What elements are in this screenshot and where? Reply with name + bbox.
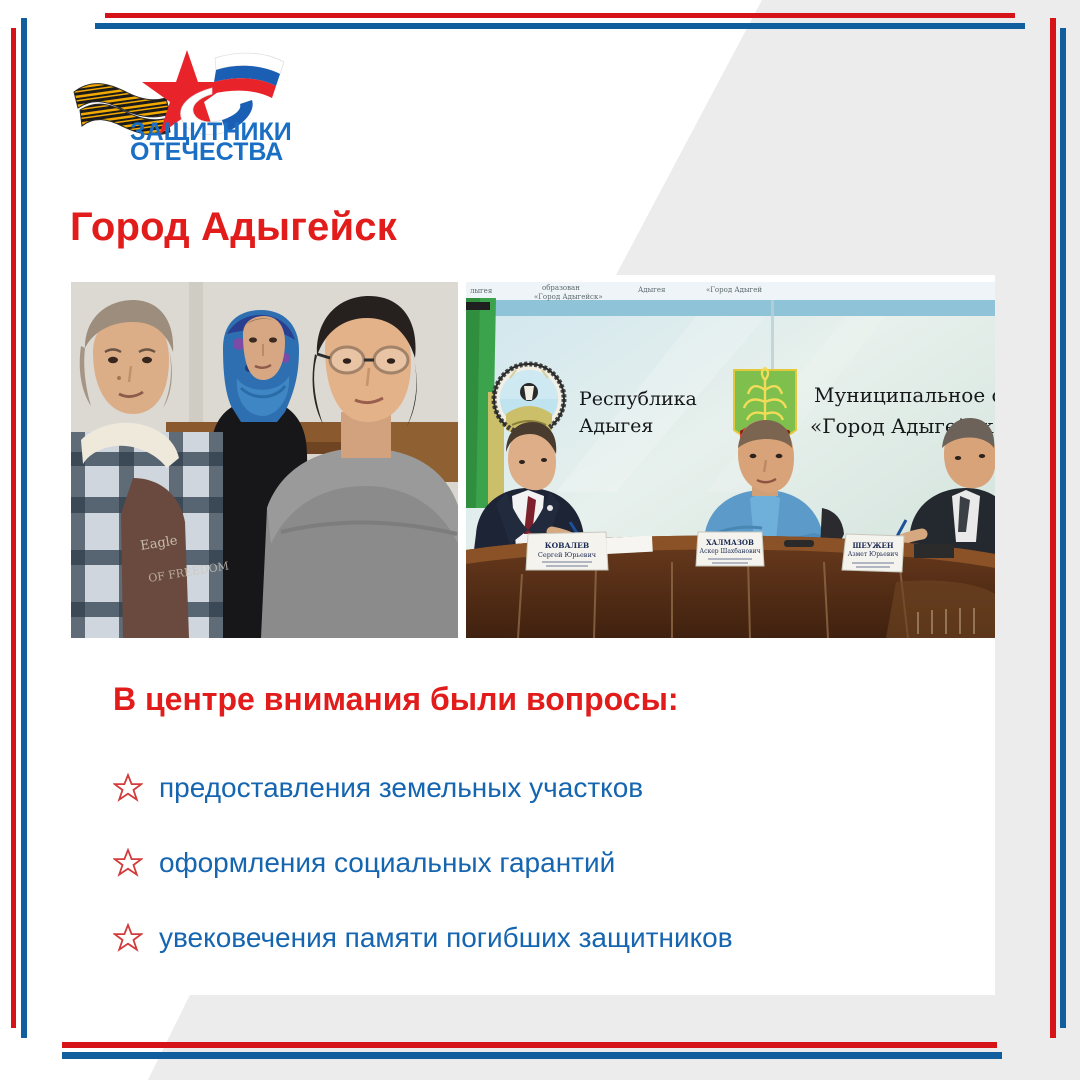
frame-line-bottom-blue bbox=[62, 1052, 1002, 1059]
photo-women-audience: Eagle OF FREEDOM bbox=[71, 282, 458, 638]
star-outline-icon bbox=[113, 923, 159, 953]
lead-heading: В центре внимания были вопросы: bbox=[113, 681, 679, 718]
frame-line-top-blue bbox=[95, 23, 1025, 29]
list-item-label: увековечения памяти погибших защитников bbox=[159, 922, 733, 954]
list-item: увековечения памяти погибших защитников bbox=[113, 900, 943, 975]
list-item-label: оформления социальных гарантий bbox=[159, 847, 615, 879]
frame-line-top-red bbox=[105, 13, 1015, 18]
star-outline-icon bbox=[113, 773, 159, 803]
banner-municipality-line1: Муниципальное о bbox=[814, 383, 995, 407]
frame-line-right-blue bbox=[1060, 28, 1066, 1028]
photo-officials-roundtable: лыгея образован «Город Адыгейск» Адыгея … bbox=[466, 282, 995, 638]
banner-region-line1: Республика bbox=[579, 388, 697, 410]
poster-canvas: ЗАЩИТНИКИ ОТЕЧЕСТВА Город Адыгейск bbox=[0, 0, 1080, 1080]
nameplate-left-patronymic: Сергей Юрьевич bbox=[538, 551, 596, 559]
nameplate-right: ШЕУЖЕН Азмет Юрьевич bbox=[842, 534, 904, 572]
frame-line-right-red bbox=[1050, 18, 1056, 1038]
nameplate-center-patronymic: Аскер Шахбанович bbox=[700, 548, 761, 555]
frame-line-bottom-red bbox=[62, 1042, 997, 1048]
list-item: оформления социальных гарантий bbox=[113, 825, 943, 900]
nameplate-center: ХАЛМАЗОВ Аскер Шахбанович bbox=[696, 532, 764, 566]
star-outline-icon bbox=[113, 848, 159, 878]
nameplate-left-surname: КОВАЛЕВ bbox=[545, 541, 590, 550]
nameplate-center-surname: ХАЛМАЗОВ bbox=[706, 538, 754, 547]
banner-top-text-4: Адыгея bbox=[638, 286, 666, 294]
banner-region-line2: Адыгея bbox=[579, 415, 653, 437]
nameplate-right-patronymic: Азмет Юрьевич bbox=[848, 551, 898, 558]
banner-top-text-5: «Город Адыгей bbox=[706, 286, 762, 294]
nameplate-right-surname: ШЕУЖЕН bbox=[852, 541, 893, 550]
banner-top-text-1: лыгея bbox=[470, 287, 493, 295]
frame-line-left-red bbox=[11, 28, 16, 1028]
banner-top-text-2: образован bbox=[542, 284, 580, 292]
logo-line2: ОТЕЧЕСТВА bbox=[130, 138, 283, 160]
banner-top-text-3: «Город Адыгейск» bbox=[534, 293, 603, 301]
focus-topics-list: предоставления земельных участков оформл… bbox=[113, 750, 943, 975]
list-item-label: предоставления земельных участков bbox=[159, 772, 643, 804]
nameplate-left: КОВАЛЕВ Сергей Юрьевич bbox=[526, 532, 608, 570]
frame-line-left-blue bbox=[21, 18, 27, 1038]
list-item: предоставления земельных участков bbox=[113, 750, 943, 825]
defenders-of-fatherland-logo: ЗАЩИТНИКИ ОТЕЧЕСТВА bbox=[70, 48, 330, 158]
page-title: Город Адыгейск bbox=[70, 205, 397, 250]
